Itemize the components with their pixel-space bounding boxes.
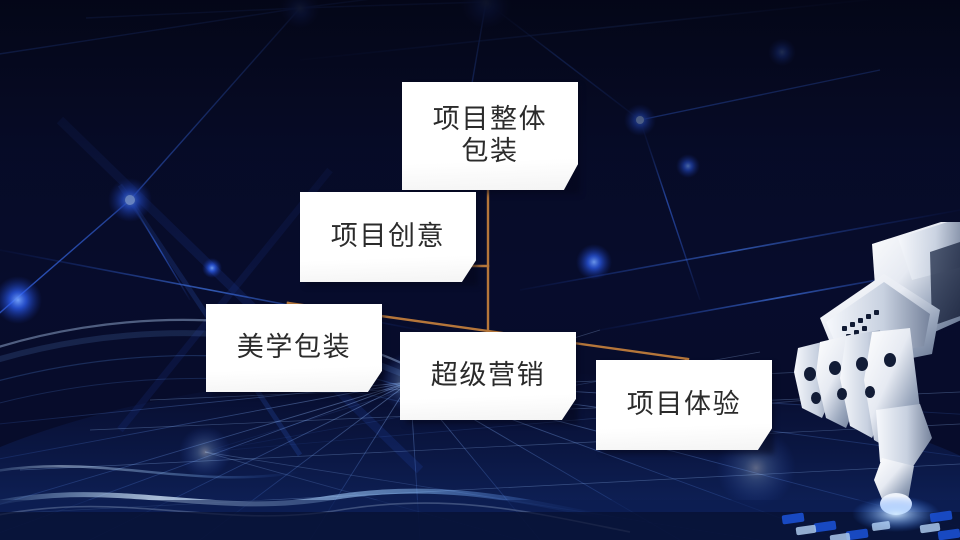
robot-hand-graphic (780, 222, 960, 540)
node-box-aesthetic[interactable]: 美学包装 (206, 304, 382, 392)
node-label-creative: 项目创意 (325, 221, 451, 253)
node-box-experience[interactable]: 项目体验 (596, 360, 772, 450)
node-box-creative[interactable]: 项目创意 (300, 192, 476, 282)
node-label-experience: 项目体验 (621, 389, 747, 421)
node-box-marketing[interactable]: 超级营销 (400, 332, 576, 420)
node-label-root: 项目整体包装 (427, 104, 553, 168)
node-label-aesthetic: 美学包装 (231, 332, 357, 364)
node-label-marketing: 超级营销 (425, 360, 551, 392)
slide-canvas: 项目整体包装 项目创意 美学包装 超级营销 项目体验 (0, 0, 960, 540)
node-box-root[interactable]: 项目整体包装 (402, 82, 578, 190)
